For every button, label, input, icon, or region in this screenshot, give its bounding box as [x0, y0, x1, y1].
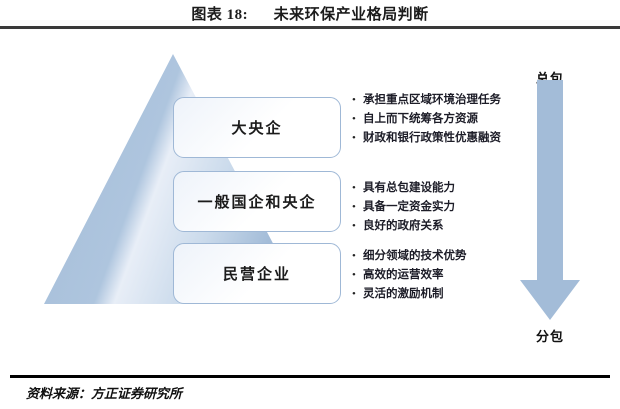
bullet-text: 具备一定资金实力 [363, 199, 455, 215]
list-item: • 承担重点区域环境治理任务 [352, 92, 532, 108]
bullet-icon: • [352, 111, 363, 127]
list-item: • 灵活的激励机制 [352, 286, 532, 302]
bullet-icon: • [352, 92, 363, 108]
tier-box-middle[interactable]: 一般国企和央企 [173, 171, 341, 232]
bullet-text: 财政和银行政策性优惠融资 [363, 130, 501, 146]
tier-label: 民营企业 [223, 263, 291, 284]
bullet-text: 承担重点区域环境治理任务 [363, 92, 501, 108]
list-item: • 良好的政府关系 [352, 218, 532, 234]
figure-header: 图表 18: 未来环保产业格局判断 [0, 0, 620, 30]
list-item: • 具有总包建设能力 [352, 180, 532, 196]
bullet-icon: • [352, 248, 363, 264]
bullet-text: 良好的政府关系 [363, 218, 444, 234]
list-item: • 具备一定资金实力 [352, 199, 532, 215]
bullet-icon: • [352, 218, 363, 234]
bullet-icon: • [352, 180, 363, 196]
list-item: • 高效的运营效率 [352, 267, 532, 283]
bullet-icon: • [352, 267, 363, 283]
tier-bullets-bottom: • 细分领域的技术优势 • 高效的运营效率 • 灵活的激励机制 [352, 248, 532, 305]
bullet-icon: • [352, 199, 363, 215]
tier-bullets-top: • 承担重点区域环境治理任务 • 自上而下统筹各方资源 • 财政和银行政策性优惠… [352, 92, 532, 149]
page-title: 图表 18: 未来环保产业格局判断 [0, 3, 620, 24]
tier-label: 大央企 [231, 117, 282, 138]
footer-divider [10, 375, 610, 378]
header-divider [0, 26, 620, 29]
source-text: 资料来源：方正证券研究所 [26, 383, 182, 402]
tier-bullets-middle: • 具有总包建设能力 • 具备一定资金实力 • 良好的政府关系 [352, 180, 532, 237]
bullet-icon: • [352, 286, 363, 302]
bullet-icon: • [352, 130, 363, 146]
bullet-text: 高效的运营效率 [363, 267, 444, 283]
down-arrow-icon [520, 80, 600, 325]
list-item: • 细分领域的技术优势 [352, 248, 532, 264]
tier-box-top[interactable]: 大央企 [173, 97, 341, 158]
bullet-text: 细分领域的技术优势 [363, 248, 467, 264]
list-item: • 自上而下统筹各方资源 [352, 111, 532, 127]
bullet-text: 灵活的激励机制 [363, 286, 444, 302]
arrow-label-bottom: 分包 [505, 326, 595, 345]
bullet-text: 具有总包建设能力 [363, 180, 455, 196]
pyramid-diagram: 大央企 • 承担重点区域环境治理任务 • 自上而下统筹各方资源 • 财政和银行政… [0, 30, 620, 375]
tier-label: 一般国企和央企 [197, 191, 316, 212]
bullet-text: 自上而下统筹各方资源 [363, 111, 478, 127]
tier-box-bottom[interactable]: 民营企业 [173, 243, 341, 304]
list-item: • 财政和银行政策性优惠融资 [352, 130, 532, 146]
